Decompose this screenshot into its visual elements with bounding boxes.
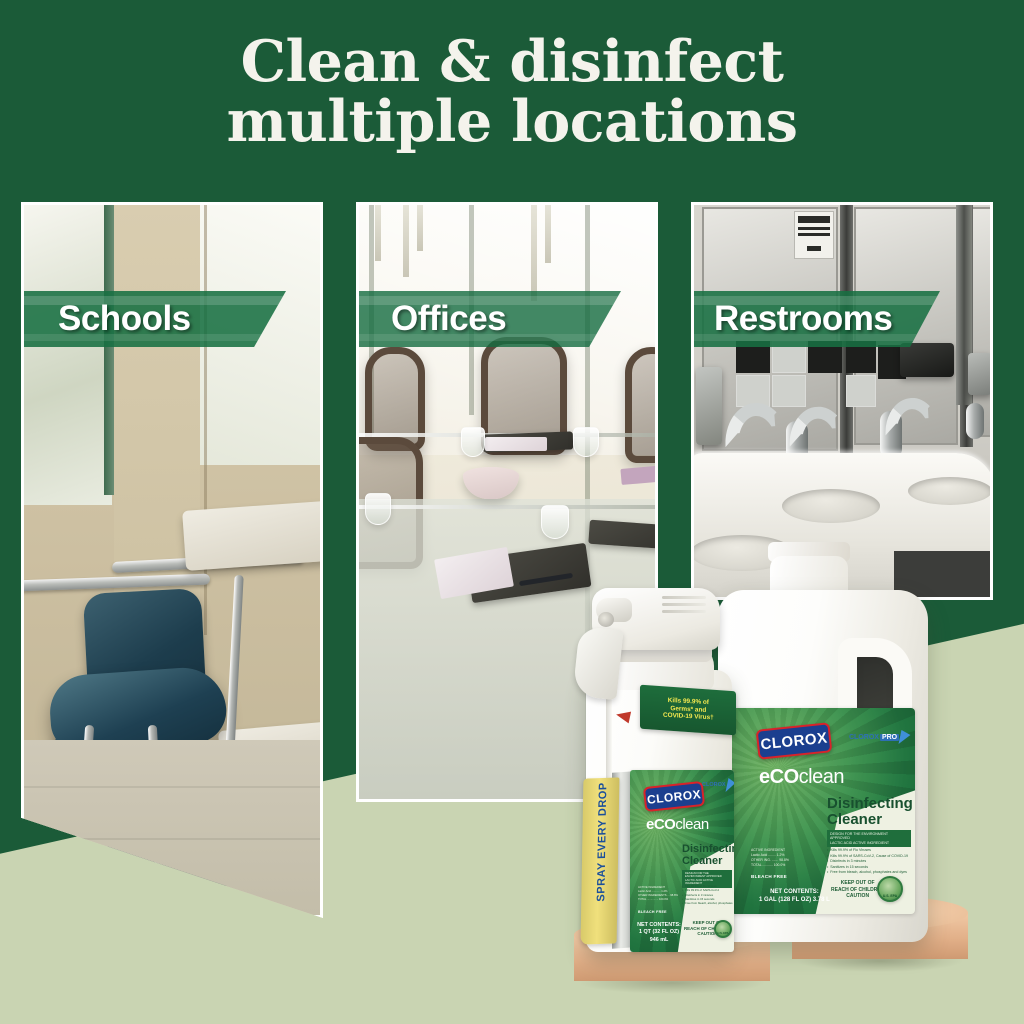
spray-ingredients: ACTIVE INGREDIENT Lactic Acid ..........… [638, 886, 678, 902]
spray-every-drop-sticker: SPRAY EVERY DROP [581, 777, 620, 944]
spray-claims-list: Kills 99.9% of Flu Viruses Kills 99.9% o… [682, 884, 733, 906]
pro-swoosh-icon [899, 730, 912, 744]
eco-prefix: eCO [646, 816, 675, 833]
magenta-folder [620, 465, 655, 485]
pendant-light [531, 205, 537, 301]
product-spray-bottle[interactable]: Kills 99.9% of Germs* and COVID-19 Virus… [578, 592, 736, 952]
nozzle-tip-icon [598, 612, 614, 627]
pendant-light [417, 205, 423, 251]
floor-tile-line [24, 786, 320, 788]
gallon-ingredients: ACTIVE INGREDIENT Lactic Acid ........ 1… [751, 848, 789, 868]
window-left [24, 205, 112, 505]
pendant-light [403, 205, 409, 277]
headline-line-1: Clean & disinfect [241, 28, 784, 95]
clean-suffix: clean [675, 816, 708, 833]
ridge [662, 610, 706, 613]
dfe-claim-band: DESIGN FOR THE ENVIRONMENT APPROVED LACT… [827, 830, 911, 847]
claim-item: Free from bleach, alcohol, phosphates [682, 901, 733, 905]
kills-claim-text: Kills 99.9% of Germs* and COVID-19 Virus… [663, 697, 714, 723]
table-edge [359, 505, 655, 509]
cloroxpro-logo: CLOROX [702, 778, 734, 792]
pendant-light [545, 205, 551, 263]
water-glass [573, 427, 599, 457]
photo-panel-restrooms[interactable]: Restrooms [691, 202, 993, 600]
cloroxpro-logo: CLOROX PRO [849, 730, 910, 744]
sink-basin [782, 489, 880, 523]
photo-panel-schools[interactable]: Schools [21, 202, 323, 918]
bleach-free-badge: BLEACH FREE [751, 874, 787, 879]
gallon-net-contents: NET CONTENTS: 1 GAL (128 FL OZ) 3.78 L [759, 888, 830, 904]
wall-tile [772, 375, 806, 407]
grip-ridges [662, 596, 706, 618]
spray-every-drop-text: SPRAY EVERY DROP [595, 767, 610, 917]
cloroxpro-suffix: PRO [880, 734, 899, 741]
trigger-lever[interactable] [572, 626, 623, 700]
decorative-bowl [463, 467, 519, 499]
claim-item: Free from bleach, alcohol, phosphates an… [827, 870, 908, 876]
panel-ribbon-offices: Offices [356, 291, 621, 347]
office-chair [625, 347, 655, 463]
spray-product-label: CLOROX CLOROX eCOclean Disinfecting Clea… [630, 770, 734, 952]
wall-seam [204, 205, 207, 635]
spray-nozzle [596, 598, 632, 622]
panel-ribbon-schools: Schools [21, 291, 286, 347]
gallon-product-name: Disinfecting Cleaner [827, 796, 913, 828]
direction-arrow-icon [615, 709, 631, 724]
pro-swoosh-icon [725, 778, 734, 792]
sink-basin [908, 477, 990, 505]
sign-text-line [807, 246, 821, 251]
restroom-sign [794, 211, 834, 259]
sign-text-line [798, 216, 830, 223]
cloroxpro-wordmark: CLOROX [702, 782, 726, 788]
panel-label-schools: Schools [21, 299, 191, 339]
ridge [662, 603, 706, 606]
paper-towel-dispenser [900, 343, 954, 377]
clorox-wordmark: CLOROX [646, 787, 702, 807]
epa-safer-choice-seal: U.S. EPA [714, 920, 732, 938]
panel-label-restrooms: Restrooms [691, 299, 892, 339]
wall-tile [846, 375, 876, 407]
ecoclean-wordmark: eCOclean [759, 766, 844, 789]
paper-sheet [485, 437, 547, 451]
faucet-column [966, 403, 984, 439]
kills-germs-claim-band: Kills 99.9% of Germs* and COVID-19 Virus… [640, 685, 736, 736]
desk-top [182, 499, 320, 571]
desk-leg [225, 575, 243, 755]
ecoclean-wordmark: eCOclean [646, 816, 709, 833]
pendant-light [375, 205, 381, 261]
panel-ribbon-restrooms: Restrooms [691, 291, 940, 347]
soap-dispenser [968, 353, 990, 395]
water-glass [541, 505, 569, 539]
marketing-banner: Clean & disinfect multiple locations [0, 0, 1024, 1024]
gallon-product-label: CLOROX CLOROX PRO eCOclean Disinfecting … [731, 708, 915, 914]
sign-text-line [798, 233, 830, 236]
headline-line-2: multiple locations [0, 92, 1024, 152]
page-title: Clean & disinfect multiple locations [0, 32, 1024, 153]
epa-seal-text: U.S. EPA [718, 932, 729, 936]
bleach-free-badge: BLEACH FREE [638, 910, 667, 914]
water-glass [365, 493, 391, 525]
epa-safer-choice-seal: U.S. EPA [877, 876, 903, 902]
public-restroom-photo [694, 205, 990, 597]
cloroxpro-wordmark: CLOROX [849, 734, 879, 741]
eco-prefix: eCO [759, 766, 799, 788]
gallon-claims-list: Kills 99.9% of Flu Viruses Kills 99.9% o… [827, 848, 908, 876]
panel-label-offices: Offices [356, 299, 506, 339]
clean-suffix: clean [799, 766, 844, 788]
ridge [662, 596, 706, 599]
spray-net-contents: NET CONTENTS: 1 QT (32 FL OZ) 946 mL [636, 922, 682, 944]
clorox-wordmark: CLOROX [760, 729, 829, 753]
epa-seal-text: U.S. EPA [883, 894, 897, 900]
spray-product-name: Disinfecting Cleaner [682, 844, 734, 868]
sign-text-line [798, 227, 830, 230]
product-gallon-refill[interactable]: CLOROX CLOROX PRO eCOclean Disinfecting … [718, 590, 928, 942]
water-glass [461, 427, 485, 457]
soap-dispenser [696, 367, 722, 445]
